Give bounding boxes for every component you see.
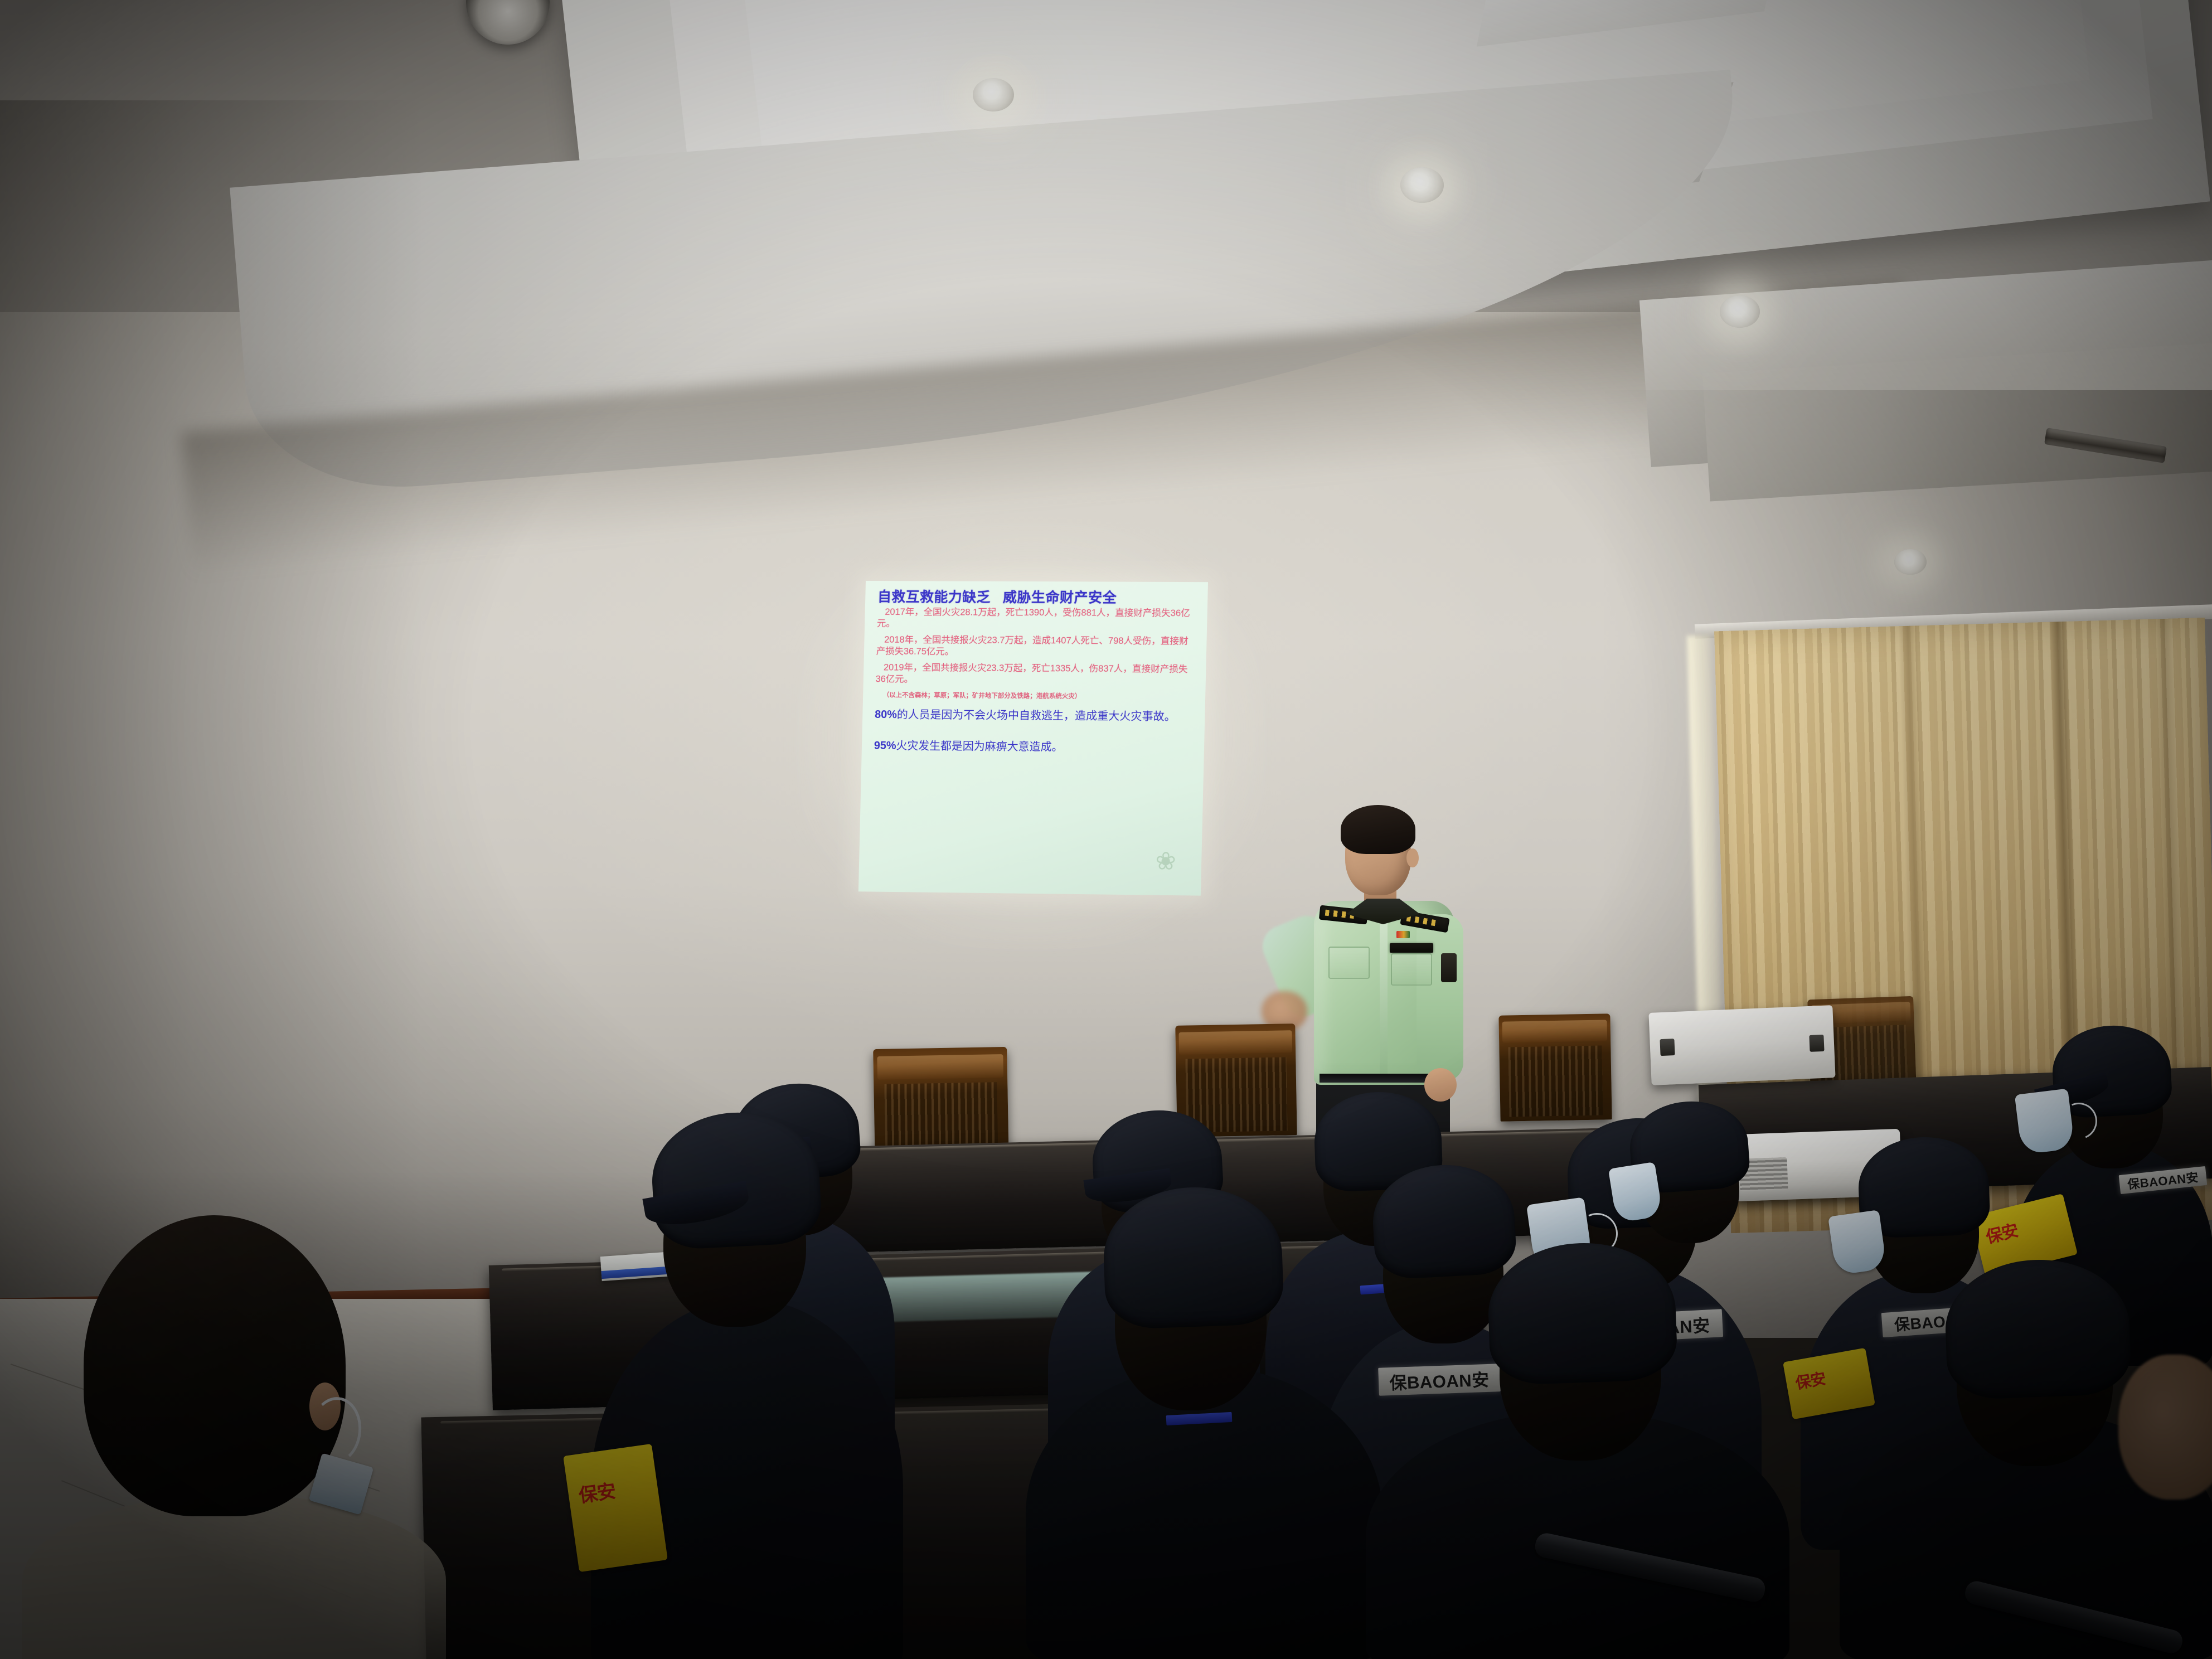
foreground-attendee <box>22 1199 446 1659</box>
downlight-1 <box>973 78 1014 111</box>
guard-cap <box>1102 1184 1285 1330</box>
attendee-shirt <box>22 1494 446 1659</box>
presenter-name-badge <box>1390 943 1433 953</box>
presenter-hair <box>1341 805 1415 854</box>
room-scene: 自救互救能力缺乏威胁生命财产安全 2017年，全国火灾28.1万起，死亡1390… <box>0 0 2212 1659</box>
slide-highlight-95-text: 火灾发生都是因为麻痹大意造成。 <box>896 740 1063 753</box>
presenter-pocket-left <box>1328 947 1370 979</box>
armband-label: 保安 <box>578 1482 617 1506</box>
slide-watermark-icon: ❀ <box>1154 849 1191 889</box>
slide-highlight-80: 80%的人员是因为不会火场中自救逃生，造成重大火灾事故。 <box>875 708 1196 724</box>
downlight-3 <box>1720 295 1760 328</box>
slide-title: 自救互救能力缺乏威胁生命财产安全 <box>877 590 1199 606</box>
guard-armband: 保安 <box>563 1444 668 1572</box>
presenter-flag-pin <box>1396 931 1410 938</box>
guard-cap <box>1943 1257 2132 1400</box>
slide-paragraph-2019: 2019年，全国共接报火灾23.3万起，死亡1335人，伤837人，直接财产损失… <box>875 662 1197 687</box>
downlight-2 <box>1400 167 1444 203</box>
slide-paragraph-2018: 2018年，全国共接报火灾23.7万起，造成1407人死亡、798人受伤，直接财… <box>876 634 1198 659</box>
projected-slide: 自救互救能力缺乏威胁生命财产安全 2017年，全国火灾28.1万起，死亡1390… <box>858 581 1208 896</box>
slide-body: 2017年，全国火灾28.1万起，死亡1390人，受伤881人，直接财产损失36… <box>874 607 1199 755</box>
audience-member-front-center <box>1026 1148 1382 1659</box>
audience-member-masked-midright <box>1600 1065 1784 1355</box>
presenter-ear <box>1406 848 1419 867</box>
foreground-hand-right-edge <box>2118 1355 2212 1500</box>
presenter-right-arm <box>1417 914 1463 1081</box>
slide-paragraph-2017: 2017年，全国火灾28.1万起，死亡1390人，受伤881人，直接财产损失36… <box>877 607 1199 632</box>
slide-footnote: （以上不含森林；草原；军队；矿井地下部分及铁路；港航系统火灾） <box>883 691 1196 701</box>
presenter-shirt-placket <box>1380 912 1388 1079</box>
slide-highlight-80-text: 的人员是因为不会火场中自救逃生，造成重大火灾事故。 <box>897 709 1176 723</box>
presenter-pocket-right <box>1391 953 1432 986</box>
guard-cap <box>649 1108 823 1250</box>
case-latch-right <box>1809 1035 1824 1052</box>
slide-title-right: 威胁生命财产安全 <box>1003 590 1117 606</box>
slide-highlight-95-pct: 95% <box>874 740 896 752</box>
case-latch-left <box>1660 1039 1675 1056</box>
audience-member-front-left: 保安 <box>591 1059 903 1659</box>
presenter-arm-patch <box>1441 953 1457 982</box>
slide-highlight-95: 95%火灾发生都是因为麻痹大意造成。 <box>874 739 1196 755</box>
wall-shadow-left <box>0 100 424 1327</box>
slide-title-left: 自救互救能力缺乏 <box>877 589 991 605</box>
slide-highlight-80-pct: 80% <box>875 709 897 721</box>
attendee-head <box>84 1215 346 1516</box>
armband-label: 保安 <box>1794 1371 1827 1391</box>
